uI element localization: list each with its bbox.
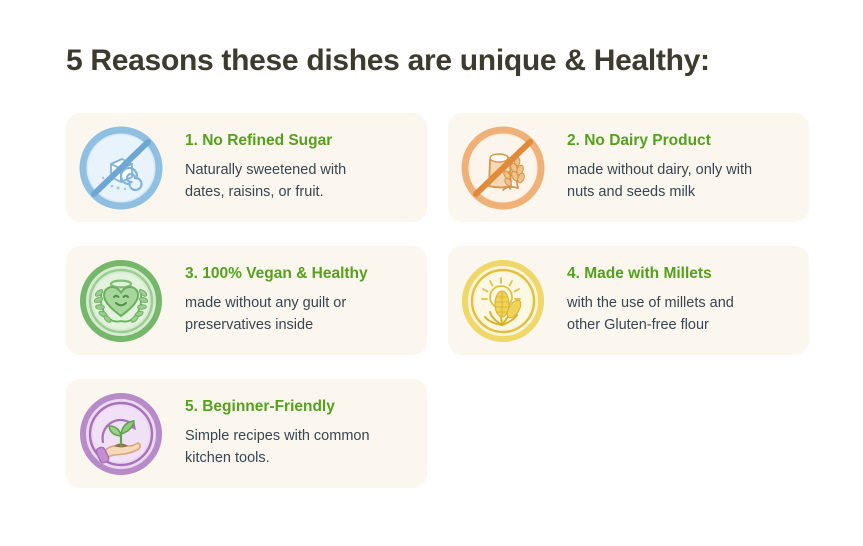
reason-card-4-text: 4. Made with Millets with the use of mil… <box>545 264 795 337</box>
reason-card-1-heading: 1. No Refined Sugar <box>185 132 413 150</box>
reason-card-5-body-line-2: kitchen tools. <box>185 450 270 466</box>
reason-card-2-body-line-1: made without dairy, only with <box>567 162 752 178</box>
reason-card-3-body-line-2: preservatives inside <box>185 317 313 333</box>
reason-card-4-body: with the use of millets and other Gluten… <box>567 292 795 337</box>
reason-card-4-heading: 4. Made with Millets <box>567 265 795 283</box>
no-dairy-product-icon <box>461 126 545 210</box>
reason-card-5-body: Simple recipes with common kitchen tools… <box>185 425 413 470</box>
reason-card-2-heading: 2. No Dairy Product <box>567 132 795 150</box>
made-with-millets-icon <box>461 259 545 343</box>
reason-card-1-body: Naturally sweetened with dates, raisins,… <box>185 159 413 204</box>
reasons-card-grid: 1. No Refined Sugar Naturally sweetened … <box>66 113 809 488</box>
reason-card-3-body-line-1: made without any guilt or <box>185 295 346 311</box>
reasons-section: 5 Reasons these dishes are unique & Heal… <box>0 0 863 546</box>
reason-card-4-body-line-1: with the use of millets and <box>567 295 734 311</box>
reason-card-1-body-line-1: Naturally sweetened with <box>185 162 346 178</box>
page-title: 5 Reasons these dishes are unique & Heal… <box>66 44 710 78</box>
reason-card-1: 1. No Refined Sugar Naturally sweetened … <box>66 113 427 222</box>
no-refined-sugar-icon <box>79 126 163 210</box>
reason-card-2-body: made without dairy, only with nuts and s… <box>567 159 795 204</box>
reason-card-4: 4. Made with Millets with the use of mil… <box>448 246 809 355</box>
reason-card-2-body-line-2: nuts and seeds milk <box>567 184 695 200</box>
reason-card-3: 3. 100% Vegan & Healthy made without any… <box>66 246 427 355</box>
reason-card-3-text: 3. 100% Vegan & Healthy made without any… <box>163 264 413 337</box>
reason-card-1-body-line-2: dates, raisins, or fruit. <box>185 184 324 200</box>
reason-card-5-heading: 5. Beginner-Friendly <box>185 398 413 416</box>
vegan-healthy-icon <box>79 259 163 343</box>
reason-card-5-text: 5. Beginner-Friendly Simple recipes with… <box>163 397 413 470</box>
reason-card-3-body: made without any guilt or preservatives … <box>185 292 413 337</box>
beginner-friendly-icon <box>79 392 163 476</box>
reason-card-5: 5. Beginner-Friendly Simple recipes with… <box>66 379 427 488</box>
reason-card-4-body-line-2: other Gluten-free flour <box>567 317 709 333</box>
reason-card-2: 2. No Dairy Product made without dairy, … <box>448 113 809 222</box>
reason-card-1-text: 1. No Refined Sugar Naturally sweetened … <box>163 131 413 204</box>
reason-card-2-text: 2. No Dairy Product made without dairy, … <box>545 131 795 204</box>
reason-card-5-body-line-1: Simple recipes with common <box>185 428 370 444</box>
reason-card-3-heading: 3. 100% Vegan & Healthy <box>185 265 413 283</box>
